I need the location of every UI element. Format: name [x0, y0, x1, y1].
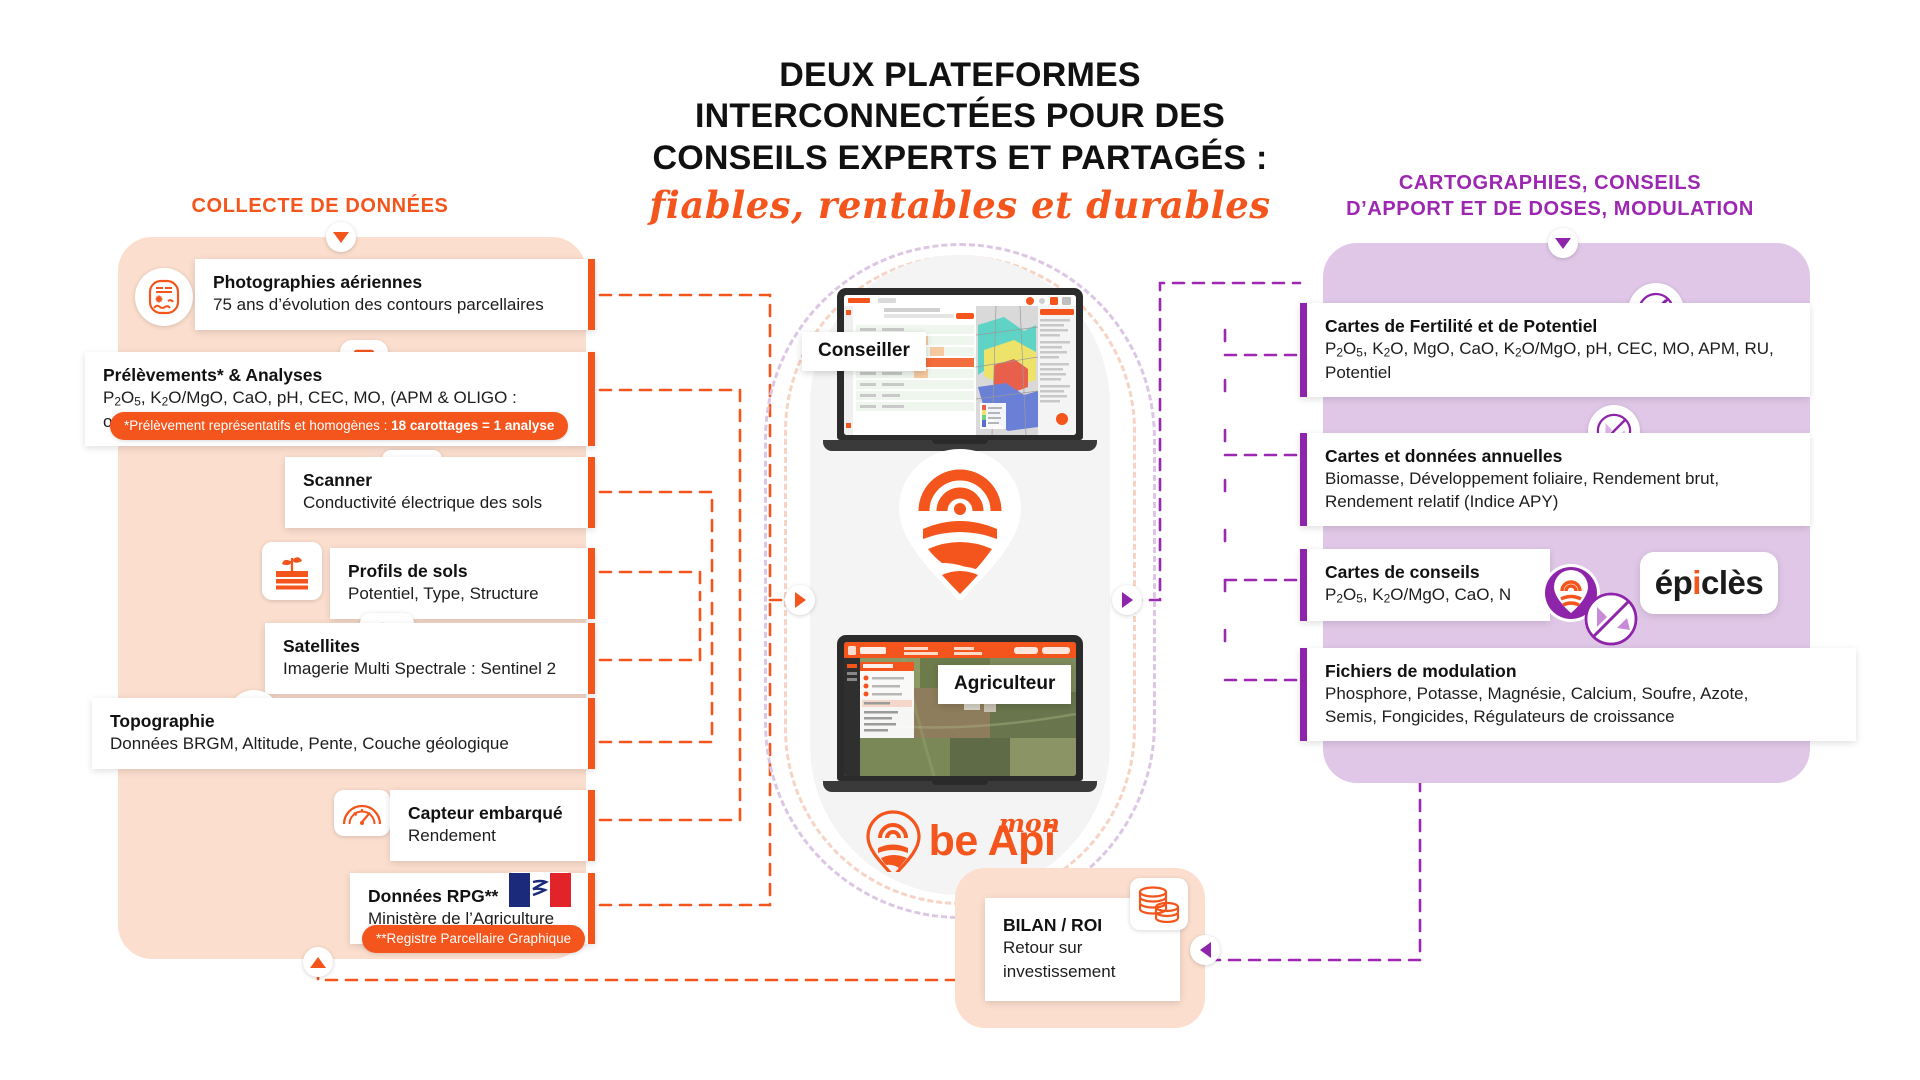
card-title: Satellites [283, 635, 570, 657]
right-card-cartes-de-conseils[interactable]: Cartes de conseils P2O5, K2O/MgO, CaO, N [1300, 549, 1550, 621]
right-heading-line-2: D’APPORT ET DE DOSES, MODULATION [1320, 196, 1780, 222]
soil-profile-icon [262, 542, 322, 600]
epicles-logo: épiclès [1640, 552, 1778, 614]
right-column-heading: CARTOGRAPHIES, CONSEILS D’APPORT ET DE D… [1320, 170, 1780, 222]
bilan-flow-arrow [1190, 935, 1220, 965]
card-subtitle: Biomasse, Développement foliaire, Rendem… [1325, 468, 1792, 513]
card-title: Photographies aériennes [213, 271, 570, 293]
be-api-pin-logo [895, 445, 1025, 605]
modulation-file-icon [1580, 588, 1642, 650]
page-title: DEUX PLATEFORMES INTERCONNECTÉES POUR DE… [560, 55, 1360, 227]
card-title: Scanner [303, 469, 570, 491]
card-subtitle: Conductivité électrique des sols [303, 492, 570, 514]
infographic-canvas: DEUX PLATEFORMES INTERCONNECTÉES POUR DE… [0, 0, 1920, 1080]
epicles-logo-text: épiclès [1655, 564, 1763, 602]
title-line-2: INTERCONNECTÉES POUR DES [560, 96, 1360, 137]
title-line-3: CONSEILS EXPERTS ET PARTAGÉS : [560, 138, 1360, 179]
left-card-scanner[interactable]: Scanner Conductivité électrique des sols [285, 457, 595, 528]
aerial-photo-icon [135, 268, 193, 326]
card-title: Topographie [110, 710, 570, 732]
left-card-photographies-aeriennes[interactable]: Photographies aériennes 75 ans d’évoluti… [195, 259, 595, 330]
left-panel-top-marker [326, 222, 356, 252]
right-card-cartes-donnees-annuelles[interactable]: Cartes et données annuelles Biomasse, Dé… [1300, 433, 1810, 526]
card-subtitle: Rendement [408, 825, 570, 847]
card-title: Cartes de Fertilité et de Potentiel [1325, 315, 1792, 337]
card-subtitle: P2O5, K2O/MgO, CaO, N [1325, 584, 1532, 607]
card-subtitle: P2O5, K2O, MgO, CaO, K2O/MgO, pH, CEC, M… [1325, 338, 1792, 384]
mon-be-api-logo: mon be Api [830, 810, 1090, 877]
left-card-satellites[interactable]: Satellites Imagerie Multi Spectrale : Se… [265, 623, 595, 694]
platform-center-visual: Conseiller [790, 255, 1130, 955]
be-api-mark-icon [865, 810, 921, 872]
card-subtitle: Données BRGM, Altitude, Pente, Couche gé… [110, 733, 570, 755]
card-title: Cartes et données annuelles [1325, 445, 1792, 467]
card-title: Prélèvements* & Analyses [103, 364, 570, 386]
card-title: Profils de sols [348, 560, 570, 582]
gauge-icon [334, 790, 390, 836]
flow-arrow-left-in [785, 585, 815, 615]
french-republic-flag-icon [509, 872, 571, 912]
left-card-topographie[interactable]: Topographie Données BRGM, Altitude, Pent… [92, 698, 595, 769]
right-panel-top-marker [1548, 228, 1578, 258]
agriculteur-laptop [837, 635, 1083, 792]
footnote-rpg-pill: **Registre Parcellaire Graphique [362, 925, 585, 953]
card-subtitle: Imagerie Multi Spectrale : Sentinel 2 [283, 658, 570, 680]
left-card-profils-de-sols[interactable]: Profils de sols Potentiel, Type, Structu… [330, 548, 595, 619]
left-column-heading: COLLECTE DE DONNÉES [120, 193, 520, 219]
card-title: Cartes de conseils [1325, 561, 1532, 583]
right-card-cartes-fertilite-potentiel[interactable]: Cartes de Fertilité et de Potentiel P2O5… [1300, 303, 1810, 397]
card-subtitle: Phosphore, Potasse, Magnésie, Calcium, S… [1325, 683, 1838, 728]
card-title: Capteur embarqué [408, 802, 570, 824]
card-subtitle: 75 ans d’évolution des contours parcella… [213, 294, 570, 316]
card-subtitle-line-2: investissement [1003, 961, 1162, 983]
card-title: Fichiers de modulation [1325, 660, 1838, 682]
left-panel-bottom-marker [303, 947, 333, 977]
coins-stack-icon [1130, 878, 1188, 930]
card-subtitle-line-1: Retour sur [1003, 937, 1162, 959]
right-card-fichiers-de-modulation[interactable]: Fichiers de modulation Phosphore, Potass… [1300, 648, 1856, 741]
title-line-1: DEUX PLATEFORMES [560, 55, 1360, 96]
left-card-capteur-embarque[interactable]: Capteur embarqué Rendement [390, 790, 595, 861]
footnote-bold: 18 carottages = 1 analyse [391, 418, 554, 433]
title-script-subtitle: fiables, rentables et durables [560, 183, 1360, 227]
footnote-prelevement-pill: *Prélèvement représentatifs et homogènes… [110, 412, 568, 440]
flow-arrow-right-out [1112, 585, 1142, 615]
card-subtitle: Potentiel, Type, Structure [348, 583, 570, 605]
agriculteur-tag: Agriculteur [938, 665, 1071, 704]
conseiller-tag: Conseiller [802, 332, 926, 371]
right-heading-line-1: CARTOGRAPHIES, CONSEILS [1320, 170, 1780, 196]
footnote-text: *Prélèvement représentatifs et homogènes… [124, 418, 391, 433]
brand-mon-script: mon [999, 809, 1060, 838]
